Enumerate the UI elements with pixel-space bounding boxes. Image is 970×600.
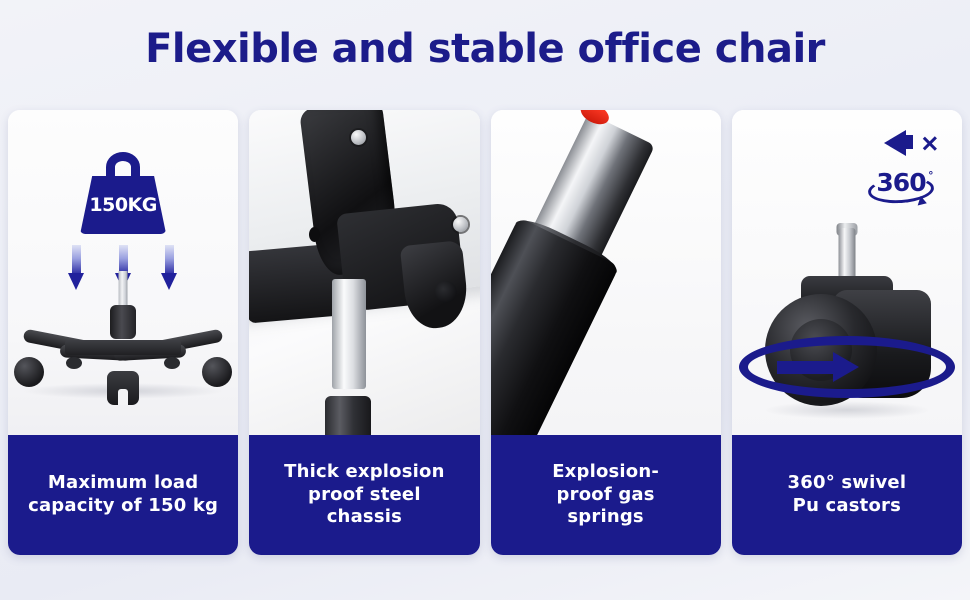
- tension-knob: [399, 240, 470, 331]
- castor-wheel: [164, 357, 180, 369]
- gas-spring-scene: [491, 110, 721, 435]
- gas-spring-photo: [491, 110, 721, 435]
- caption-line: proof gas: [552, 484, 659, 507]
- caption-line: Thick explosion: [284, 461, 444, 484]
- infographic-page: Flexible and stable office chair 150KG: [0, 0, 970, 600]
- mute-speaker-icon: [884, 126, 940, 160]
- caption-line: Pu castors: [788, 495, 907, 518]
- card-caption: Maximum load capacity of 150 kg: [8, 435, 238, 555]
- castor-wheel: [202, 357, 232, 387]
- castor-wheel: [14, 357, 44, 387]
- rotation-label: 360: [864, 168, 938, 197]
- caption-line: proof steel: [284, 484, 444, 507]
- caption-line: capacity of 150 kg: [28, 495, 218, 518]
- castor-scene: 360 °: [732, 110, 962, 435]
- caption-line: 360° swivel: [788, 472, 907, 495]
- feature-card-gas-spring: Explosion- proof gas springs: [491, 110, 721, 555]
- speaker-body: [904, 135, 913, 149]
- chassis-photo: [249, 110, 479, 435]
- feature-card-steel-chassis: Thick explosion proof steel chassis: [249, 110, 479, 555]
- castor-illustration: [747, 228, 947, 418]
- page-title: Flexible and stable office chair: [0, 26, 970, 72]
- card-caption: 360° swivel Pu castors: [732, 435, 962, 555]
- degree-symbol: °: [929, 170, 933, 182]
- rotation-arrowhead: [918, 196, 929, 208]
- speaker-cone: [884, 130, 906, 156]
- card-caption: Thick explosion proof steel chassis: [249, 435, 479, 555]
- feature-card-max-load: 150KG: [8, 110, 238, 555]
- weight-body: 150KG: [80, 176, 166, 234]
- caption-line: Maximum load: [28, 472, 218, 495]
- caption-line: Explosion-: [552, 461, 659, 484]
- close-icon: [921, 135, 938, 152]
- caption-line: springs: [552, 506, 659, 529]
- cylinder-sleeve: [325, 396, 371, 435]
- card-caption: Explosion- proof gas springs: [491, 435, 721, 555]
- feature-card-row: 150KG: [8, 110, 962, 555]
- castor-wheel: [107, 371, 139, 405]
- caption-line: chassis: [284, 506, 444, 529]
- chassis-scene: [249, 110, 479, 435]
- base-hub: [110, 305, 136, 339]
- gas-spring-assembly: [491, 110, 721, 435]
- chair-base-icon: [8, 253, 238, 413]
- max-load-illustration: 150KG: [8, 110, 238, 435]
- castor-wheel: [66, 357, 82, 369]
- chrome-cylinder: [332, 279, 366, 389]
- castor-photo: 360 °: [732, 110, 962, 435]
- base-center-plate: [65, 340, 181, 355]
- swivel-arrowhead: [833, 352, 859, 382]
- feature-card-swivel-castor: 360 °: [732, 110, 962, 555]
- floor-shadow: [764, 401, 930, 419]
- weight-badge-label: 150KG: [89, 194, 156, 216]
- castor-stem: [838, 228, 855, 280]
- rotation-360-icon: 360 °: [864, 168, 938, 208]
- screw-icon: [351, 130, 366, 145]
